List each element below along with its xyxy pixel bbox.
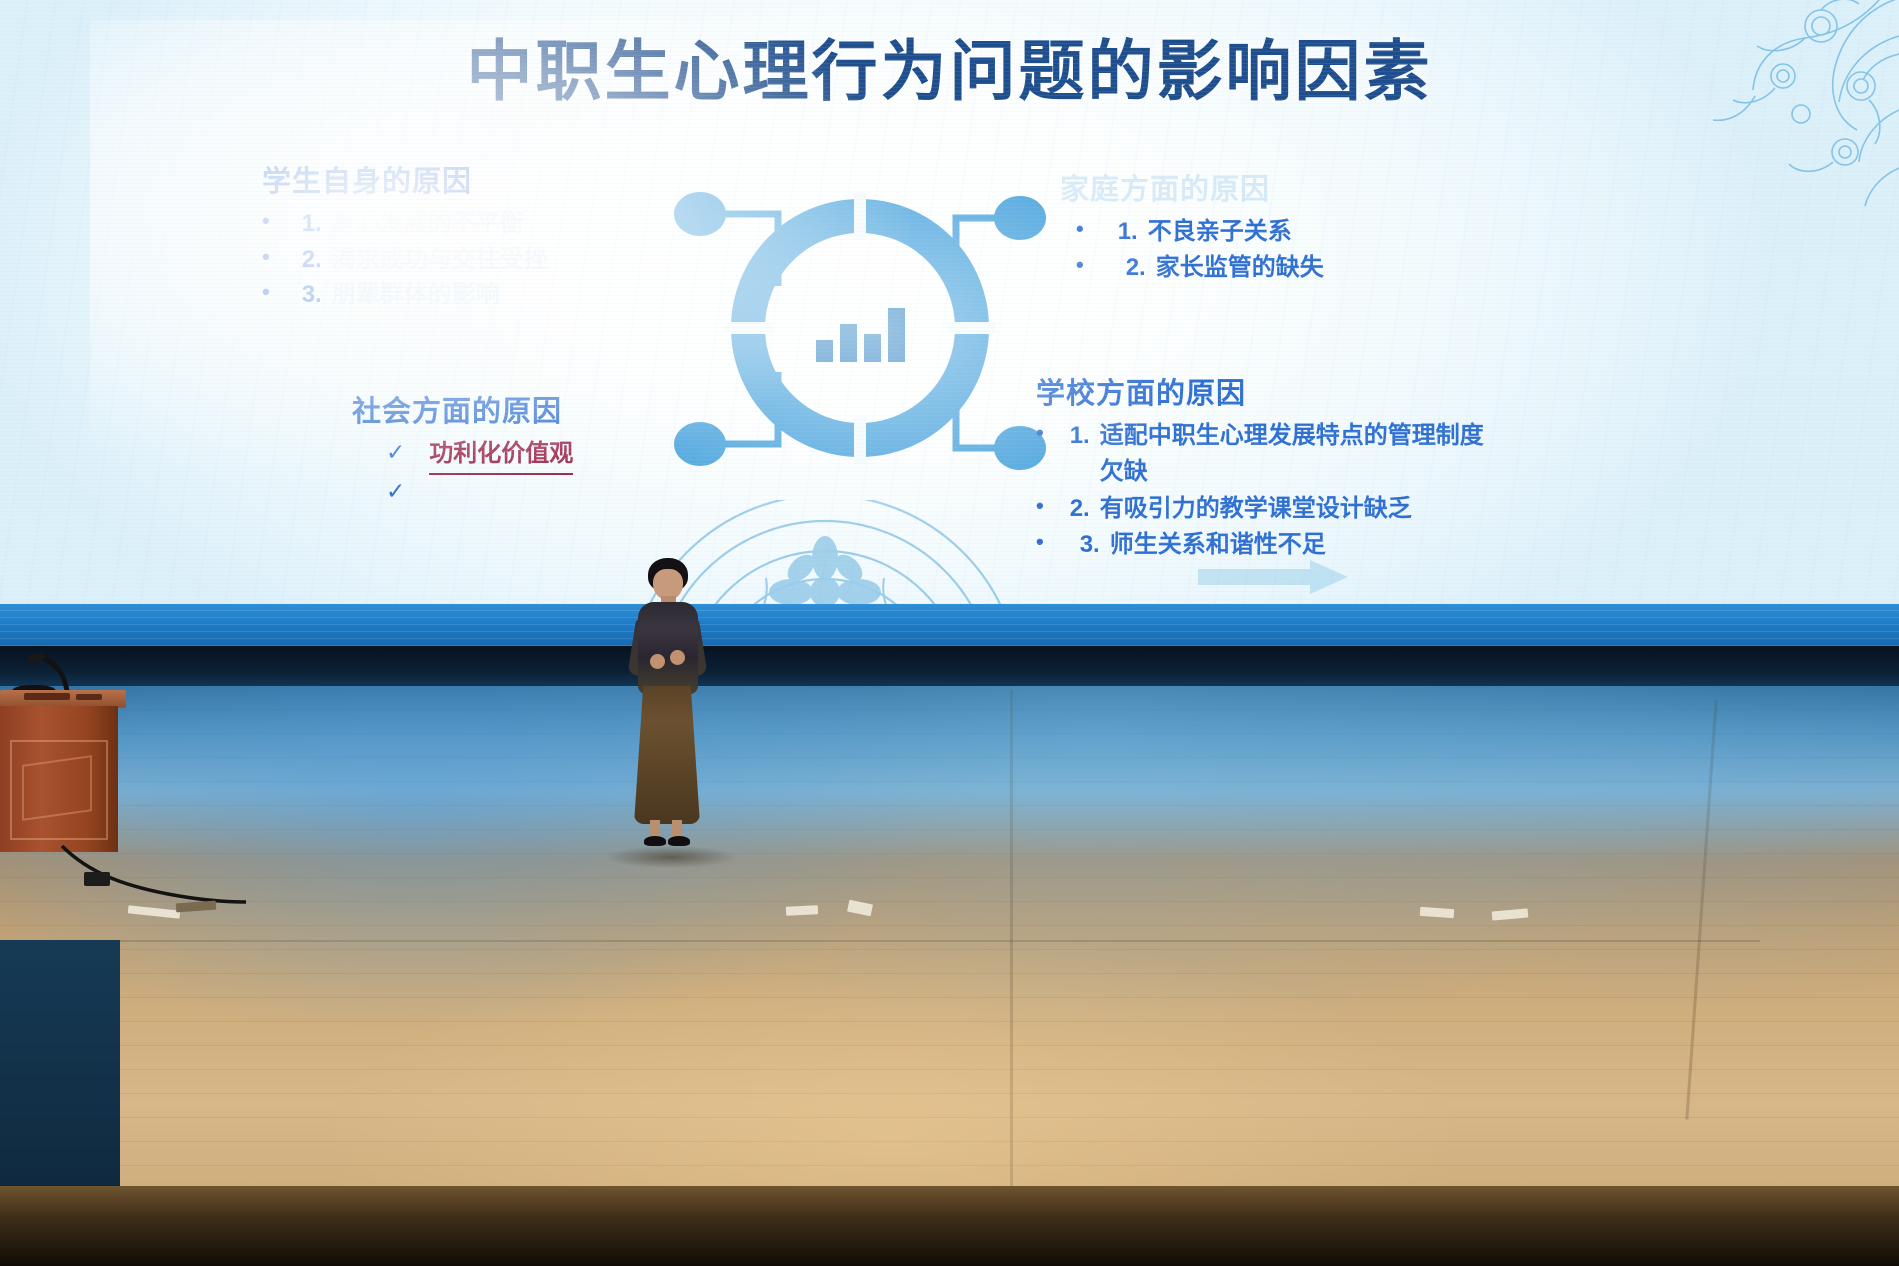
list-item-text-highlighted: 功利化价值观 [429, 436, 573, 475]
list-item-marker: 2. [1126, 250, 1146, 286]
stage-floor [0, 686, 1899, 1266]
list-item-marker: 3. [1080, 527, 1100, 563]
check-icon: ✓ [386, 475, 405, 507]
bullet-icon: • [1036, 527, 1044, 558]
podium-diamond-inlay [22, 755, 92, 821]
list-item-marker: 2. [1070, 491, 1090, 527]
bullet-icon: • [1036, 418, 1044, 449]
section-heading-family: 家庭方面的原因 [1060, 166, 1324, 208]
stage-edge-shadow [0, 646, 1899, 690]
presenter-hand-left [650, 654, 665, 669]
slide-section-society: 社会方面的原因 ✓ 功利化价值观 ✓ [352, 388, 573, 507]
bullet-icon: • [1076, 250, 1084, 281]
slide-section-family: 家庭方面的原因 • 1. 不良亲子关系 • 2. 家长监管的缺失 [1060, 166, 1324, 285]
projection-screen: 中职生心理行为问题的影响因素 [0, 0, 1899, 622]
cable-connector [84, 872, 110, 886]
list-item-marker: 1. [1118, 214, 1138, 250]
podium-desk-item [24, 693, 70, 700]
wooden-podium [0, 690, 130, 850]
bullet-icon: • [262, 206, 270, 237]
list-item-text: 渴求成功与交往受挫 [332, 242, 548, 278]
node-top-left [674, 192, 726, 236]
slide-section-school: 学校方面的原因 • 1. 适配中职生心理发展特点的管理制度欠缺 • 2. 有吸引… [1036, 370, 1506, 562]
section-heading-society: 社会方面的原因 [352, 388, 573, 430]
presenter-hand-right [670, 650, 685, 665]
bullet-icon: • [262, 277, 270, 308]
donut-infographic [660, 178, 1060, 478]
presenter-shoe-right [668, 836, 690, 846]
section-heading-student: 学生自身的原因 [262, 158, 548, 200]
slide-title: 中职生心理行为问题的影响因素 [0, 38, 1899, 104]
stage-apron [0, 1186, 1899, 1266]
podium-desk-item [76, 694, 102, 700]
paper-scrap [786, 905, 818, 916]
list-item-marker: 1. [302, 206, 322, 242]
presenter-shoe-left [644, 836, 666, 846]
bar-chart-icon [816, 308, 905, 362]
section-heading-school: 学校方面的原因 [1036, 370, 1506, 412]
list-item-text: 家长监管的缺失 [1156, 250, 1324, 286]
bullet-icon: • [1036, 491, 1044, 522]
list-item-marker: 2. [302, 242, 322, 278]
stage-edge-band [0, 604, 1899, 648]
presenter-top [638, 602, 698, 694]
bullet-icon: • [262, 242, 270, 273]
floral-corner-ornament [1569, 0, 1899, 230]
node-bottom-left [674, 422, 726, 466]
presenter [620, 558, 712, 854]
podium-body [0, 706, 118, 852]
auditorium-stage-photo: 中职生心理行为问题的影响因素 [0, 0, 1899, 1266]
list-item-text: 不良亲子关系 [1148, 214, 1292, 250]
arrow-ornament [1198, 560, 1348, 594]
bullet-icon: • [1076, 214, 1084, 245]
check-icon: ✓ [386, 436, 405, 468]
list-item-text: 朋辈群体的影响 [332, 277, 500, 313]
list-item-text: 适配中职生心理发展特点的管理制度欠缺 [1100, 418, 1500, 489]
node-top-right [994, 196, 1046, 240]
list-item-text: 师生关系和谐性不足 [1110, 527, 1326, 563]
list-item-text: 有吸引力的教学课堂设计缺乏 [1100, 491, 1412, 527]
presenter-skirt [634, 686, 700, 824]
list-item-text: 身心发展的不平衡 [332, 206, 524, 242]
list-item-marker: 1. [1070, 418, 1090, 454]
list-item-marker: 3. [302, 277, 322, 313]
slide-section-student: 学生自身的原因 • 1. 身心发展的不平衡 • 2. 渴求成功与交往受挫 • 3… [262, 158, 548, 313]
